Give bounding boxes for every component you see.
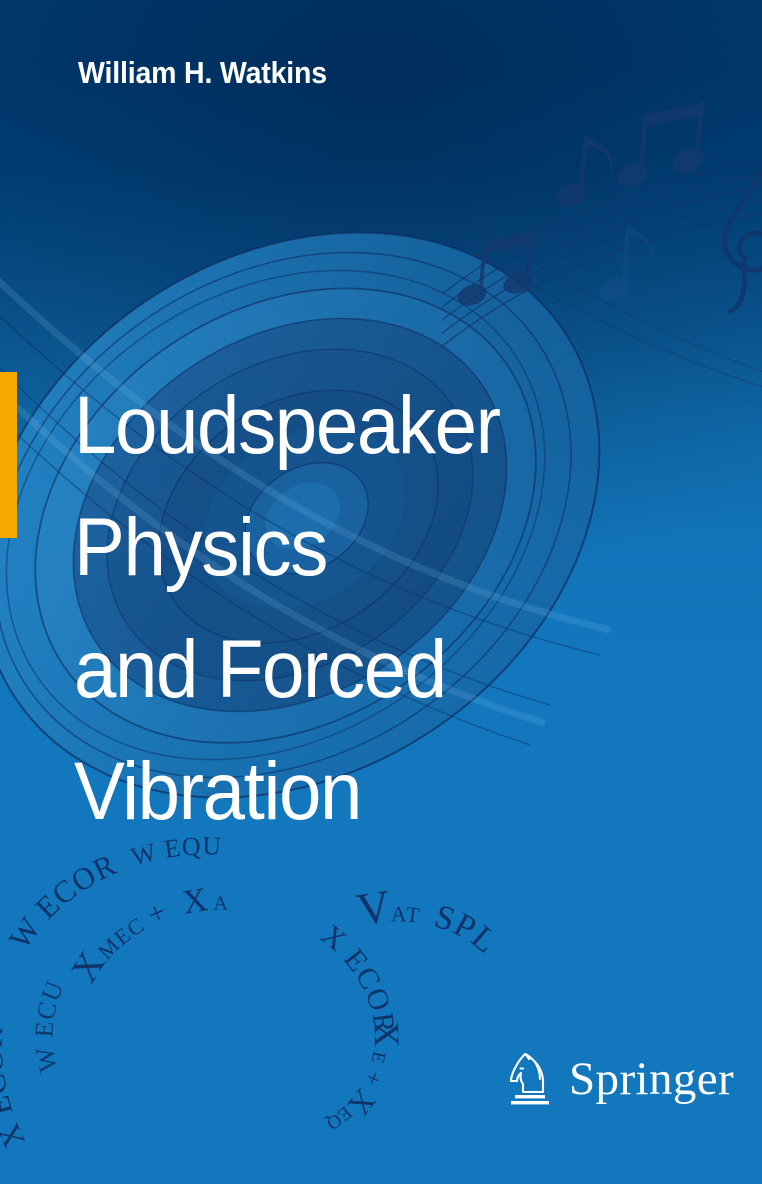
svg-text:X: X	[180, 881, 210, 921]
book-cover: X ECOR W ECOR W EQU X MEC +	[0, 0, 762, 1184]
svg-text:+: +	[143, 895, 171, 932]
svg-text:X: X	[366, 1021, 406, 1048]
svg-text:SPL: SPL	[430, 898, 504, 961]
author-name: William H. Watkins	[78, 55, 327, 91]
title-line-2: Physics	[74, 487, 651, 609]
svg-text:X ECOR: X ECOR	[0, 1026, 32, 1154]
svg-text:MEC: MEC	[93, 912, 149, 964]
svg-text:V: V	[353, 880, 394, 935]
publisher-logo: Springer	[505, 1048, 734, 1110]
svg-text:A: A	[213, 893, 228, 915]
title-line-1: Loudspeaker	[74, 365, 651, 487]
svg-text:E: E	[366, 1049, 389, 1065]
accent-bar	[0, 372, 17, 538]
page-title: Loudspeaker Physics and Forced Vibration	[74, 365, 694, 853]
title-line-3: and Forced	[74, 609, 651, 731]
title-line-4: Vibration	[74, 731, 651, 853]
svg-text:X ECOR: X ECOR	[315, 918, 401, 1035]
svg-text:W ECU: W ECU	[29, 976, 69, 1074]
springer-knight-icon	[505, 1048, 555, 1110]
svg-text:AT: AT	[391, 901, 422, 928]
publisher-name: Springer	[569, 1056, 734, 1103]
svg-text:+: +	[358, 1067, 387, 1090]
